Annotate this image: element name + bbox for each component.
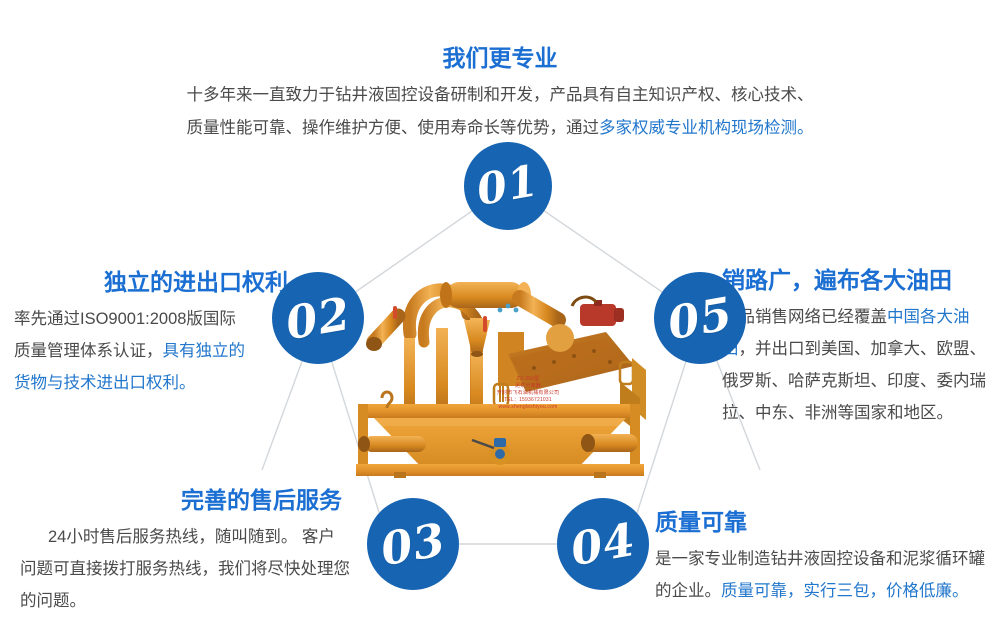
advantage-02-highlight-2: 货物与技术进出口权利。 [14,374,196,392]
step-badge-02[interactable]: 02 [272,272,364,364]
nameplate-line-4: TEL：15936721031 [468,397,588,404]
advantage-01-line1: 十多年来一直致力于钻井液固控设备研制和开发，产品具有自主知识产权、核心技术、 [187,86,814,104]
advantage-03-body: 24小时售后服务热线，随叫随到。 客户问题可直接拨打服务热线，我们将尽快处理您的… [20,521,350,617]
step-badge-05[interactable]: 05 [654,272,746,364]
advantage-block-02: 独立的进出口权利 率先通过ISO9001:2008版国际 质量管理体系认证，具有… [14,268,290,399]
advantage-01-line2: 质量性能可靠、操作维护方便、使用寿命长等优势，通过 [187,119,600,137]
advantage-02-body: 率先通过ISO9001:2008版国际 质量管理体系认证，具有独立的 货物与技术… [14,303,290,399]
step-badge-02-label: 02 [282,290,353,346]
advantage-01-highlight: 多家权威专业机构现场检测。 [599,119,814,137]
step-badge-01[interactable]: 01 [464,142,552,230]
nameplate-line-1: ZX-250型 [468,376,588,383]
step-badge-04-label: 04 [567,516,638,572]
advantage-02-headline: 独立的进出口权利 [14,268,290,297]
advantage-block-05: 销路广，遍布各大油田 产品销售网络已经覆盖中国各大油田，并出口到美国、加拿大、欧… [722,266,1000,429]
step-badge-04[interactable]: 04 [557,498,649,590]
nameplate-line-5: www.shengleshiyou.com [468,404,588,411]
nameplate-line-2: 泥浆分离器 [468,383,588,390]
advantage-02-line2: 质量管理体系认证， [14,342,163,360]
advantage-02-line1: 率先通过ISO9001:2008版国际 [14,310,236,328]
advantage-04-body: 是一家专业制造钻井液固控设备和泥浆循环罐的企业。质量可靠，实行三包，价格低廉。 [655,543,985,607]
step-badge-01-label: 01 [474,159,542,212]
step-badge-03-label: 03 [377,516,448,572]
advantage-01-body: 十多年来一直致力于钻井液固控设备研制和开发，产品具有自主知识产权、核心技术、 质… [150,79,850,145]
advantage-01-headline: 我们更专业 [150,44,850,73]
machine-nameplate: ZX-250型 泥浆分离器 开封市飞石油机械有限公司 TEL：159367210… [468,376,588,411]
step-badge-03[interactable]: 03 [367,498,459,590]
advantage-block-04: 质量可靠 是一家专业制造钻井液固控设备和泥浆循环罐的企业。质量可靠，实行三包，价… [655,508,985,607]
advantage-05-text-a: 产品销售网络已经覆盖 [722,308,887,326]
advantage-05-text-b: ，并出口到美国、加拿大、欧盟、俄罗斯、哈萨克斯坦、印度、委内瑞拉、中东、非洲等国… [722,340,986,422]
product-machine-image: ZX-250型 泥浆分离器 开封市飞石油机械有限公司 TEL：159367210… [348,258,658,480]
advantage-02-highlight-1: 具有独立的 [163,342,246,360]
advantage-03-headline: 完善的售后服务 [20,486,350,515]
advantage-block-01: 我们更专业 十多年来一直致力于钻井液固控设备研制和开发，产品具有自主知识产权、核… [150,44,850,145]
advantage-block-03: 完善的售后服务 24小时售后服务热线，随叫随到。 客户问题可直接拨打服务热线，我… [20,486,350,617]
advantage-04-highlight: 质量可靠，实行三包，价格低廉。 [721,582,969,600]
advantage-05-body: 产品销售网络已经覆盖中国各大油田，并出口到美国、加拿大、欧盟、俄罗斯、哈萨克斯坦… [722,301,1000,429]
nameplate-line-3: 开封市飞石油机械有限公司 [468,390,588,397]
advantage-05-headline: 销路广，遍布各大油田 [722,266,1000,295]
step-badge-05-label: 05 [664,290,735,346]
advantage-04-headline: 质量可靠 [655,508,985,537]
advantages-infographic: ZX-250型 泥浆分离器 开封市飞石油机械有限公司 TEL：159367210… [0,0,1000,642]
